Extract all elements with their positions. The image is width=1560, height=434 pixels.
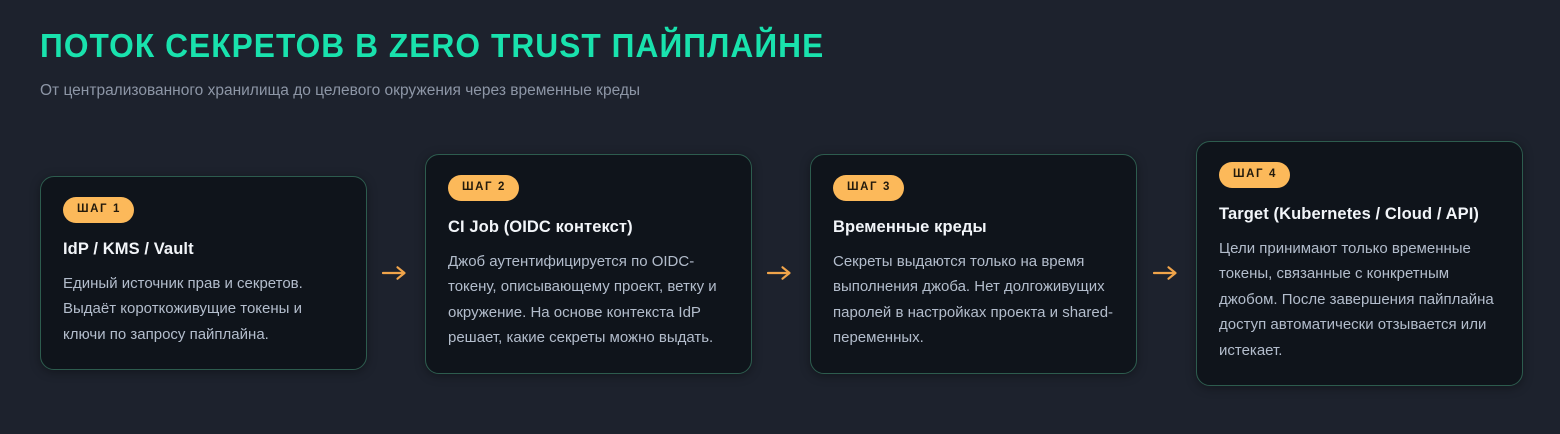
step-card-1[interactable]: Шаг 1 IdP / KMS / Vault Единый источник …	[40, 176, 367, 370]
pipeline-flow: Шаг 1 IdP / KMS / Vault Единый источник …	[0, 0, 1560, 434]
step-badge-3: Шаг 3	[833, 175, 904, 201]
arrow-right-icon-3	[1152, 264, 1182, 282]
step-card-4[interactable]: Шаг 4 Target (Kubernetes / Cloud / API) …	[1196, 141, 1523, 386]
step-description-1: Единый источник прав и секретов. Выдаёт …	[63, 271, 344, 348]
step-description-2: Джоб аутентифицируется по OIDC-токену, о…	[448, 249, 729, 351]
step-description-3: Секреты выдаются только на время выполне…	[833, 249, 1114, 351]
step-card-3[interactable]: Шаг 3 Временные креды Секреты выдаются т…	[810, 154, 1137, 374]
step-title-3: Временные креды	[833, 217, 1114, 238]
step-description-4: Цели принимают только временные токены, …	[1219, 236, 1500, 364]
step-title-4: Target (Kubernetes / Cloud / API)	[1219, 204, 1500, 225]
arrow-right-icon-1	[381, 264, 411, 282]
arrow-right-icon-2	[766, 264, 796, 282]
step-title-1: IdP / KMS / Vault	[63, 239, 344, 260]
step-title-2: CI Job (OIDC контекст)	[448, 217, 729, 238]
step-card-2[interactable]: Шаг 2 CI Job (OIDC контекст) Джоб аутент…	[425, 154, 752, 374]
step-badge-2: Шаг 2	[448, 175, 519, 201]
step-badge-4: Шаг 4	[1219, 162, 1290, 188]
step-badge-1: Шаг 1	[63, 197, 134, 223]
infographic-page: Поток секретов в Zero Trust пайплайне От…	[0, 0, 1560, 434]
